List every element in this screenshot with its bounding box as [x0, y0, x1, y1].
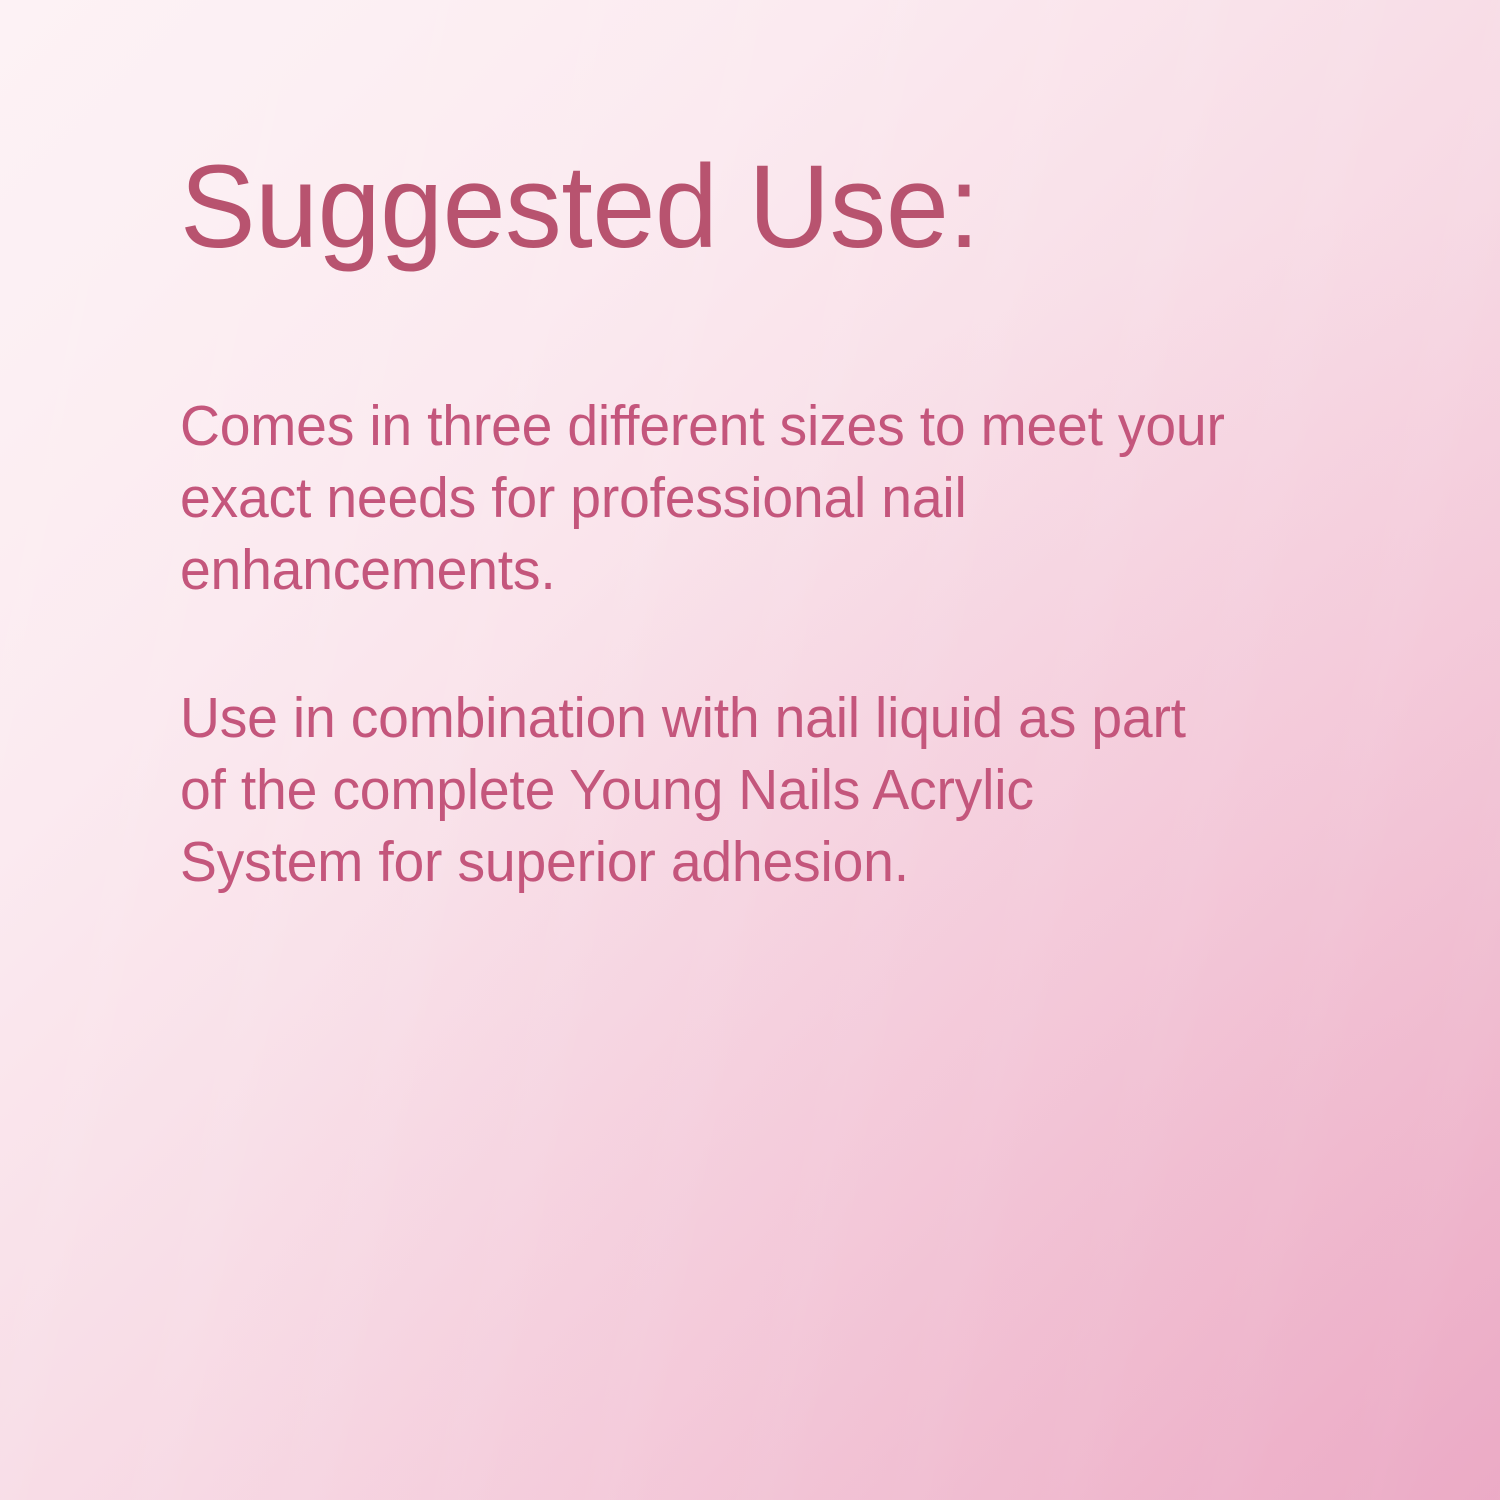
content-block: Suggested Use: Comes in three different …: [180, 148, 1300, 898]
suggested-use-paragraph-2: Use in combination with nail liquid as p…: [180, 682, 1223, 898]
suggested-use-paragraph-1: Comes in three different sizes to meet y…: [180, 390, 1232, 606]
page-title: Suggested Use:: [180, 148, 1255, 266]
suggested-use-card: Suggested Use: Comes in three different …: [0, 0, 1500, 1500]
